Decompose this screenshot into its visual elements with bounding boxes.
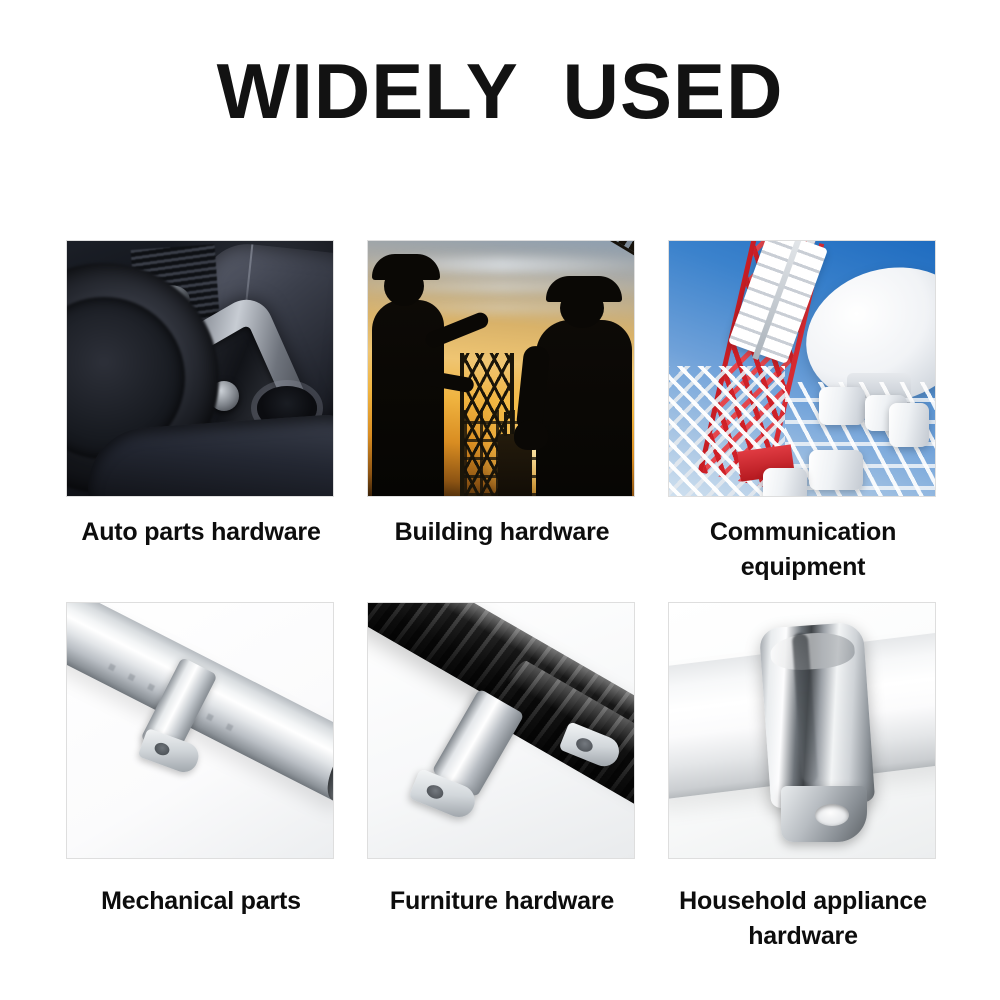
gallery-cell-mechanical[interactable]: Mechanical parts — [66, 602, 336, 953]
widely-used-infographic: WIDELY USED Auto parts hardware — [0, 0, 1000, 1000]
worker-silhouette-right — [536, 320, 632, 496]
hard-hat-shape — [372, 254, 440, 280]
car-interior-photo — [66, 240, 334, 497]
gallery-caption: Communication equipment — [668, 515, 938, 584]
communication-tower-illustration — [669, 241, 935, 496]
car-interior-illustration — [67, 241, 333, 496]
hard-hat-shape — [546, 276, 622, 302]
worker-glove-shape — [514, 420, 548, 450]
antenna-cylinder-shape — [889, 403, 929, 447]
gallery-caption: Auto parts hardware — [66, 515, 336, 550]
stainless-saddle-shape — [759, 622, 875, 809]
steel-pipe-illustration — [67, 603, 333, 858]
worker-silhouette-left — [372, 300, 444, 496]
application-gallery-grid: Auto parts hardware — [66, 240, 938, 953]
gallery-caption: Furniture hardware — [367, 884, 637, 919]
saddle-clamp-illustration — [669, 603, 935, 858]
antenna-cylinder-shape — [819, 387, 865, 425]
saddle-screw-hole-shape — [815, 804, 849, 826]
communication-tower-photo — [668, 240, 936, 497]
gallery-caption: Building hardware — [367, 515, 637, 550]
worker-arm-shape — [423, 310, 490, 350]
corrugated-hose-illustration — [368, 603, 634, 858]
saddle-clamp-pvc-photo — [668, 602, 936, 859]
construction-workers-photo — [367, 240, 635, 497]
page-title: WIDELY USED — [0, 52, 1000, 130]
antenna-cylinder-shape — [809, 450, 863, 490]
gallery-cell-household[interactable]: Household appliance hardware — [668, 602, 938, 953]
clamp-mounting-foot-shape — [138, 728, 203, 776]
gallery-caption: Household appliance hardware — [668, 884, 938, 953]
construction-sunset-illustration — [368, 241, 634, 496]
gallery-cell-communication[interactable]: Communication equipment — [668, 240, 938, 584]
gallery-cell-building[interactable]: Building hardware — [367, 240, 637, 584]
antenna-cylinder-shape — [763, 468, 807, 497]
gallery-caption: Mechanical parts — [66, 884, 336, 919]
corrugated-hose-clamp-photo — [367, 602, 635, 859]
gallery-cell-furniture[interactable]: Furniture hardware — [367, 602, 637, 953]
gallery-cell-auto-parts[interactable]: Auto parts hardware — [66, 240, 336, 584]
steel-pipe-clamp-photo — [66, 602, 334, 859]
